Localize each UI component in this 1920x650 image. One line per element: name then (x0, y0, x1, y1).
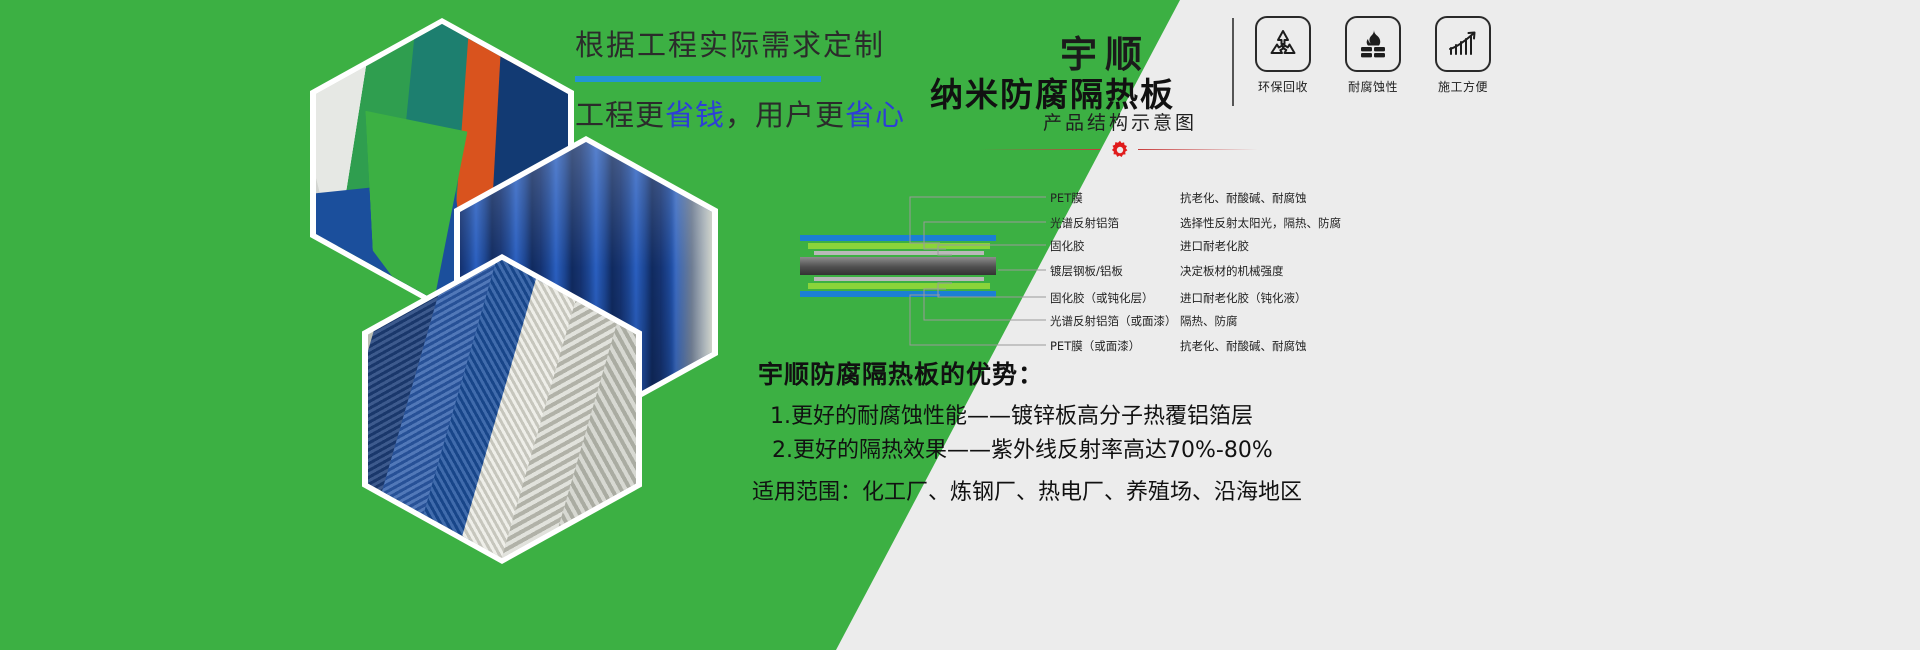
slogan-divider-rule (575, 76, 821, 82)
advantage-item-2: 2.更好的隔热效果——紫外线反射率高达70%-80% (772, 432, 1273, 464)
badge-box (1255, 16, 1311, 72)
layer-desc-5: 隔热、防腐 (1180, 313, 1238, 329)
slogan-line-1: 根据工程实际需求定制 (575, 22, 875, 64)
product-structure-diagram: PET膜 光谱反射铝箔 固化胶 镀层钢板/铝板 固化胶（或钝化层） 光谱反射铝箔… (880, 175, 1920, 370)
badge-label: 施工方便 (1432, 78, 1494, 95)
diagram-leader-lines (880, 175, 1920, 370)
badge-recycle: 环保回收 (1252, 16, 1314, 95)
gear-icon (1110, 140, 1130, 160)
growth-chart-icon (1446, 27, 1480, 61)
advantages-title-colon: ： (1018, 360, 1044, 389)
diagram-rule-right (1138, 149, 1258, 150)
badge-easy-install: 施工方便 (1432, 16, 1494, 95)
brand-divider (1232, 18, 1234, 106)
layer-desc-4: 进口耐老化胶（钝化液） (1180, 290, 1307, 306)
layer-desc-0: 抗老化、耐酸碱、耐腐蚀 (1180, 190, 1307, 206)
slogan-text-a: 工程更 (575, 98, 665, 132)
advantages-title-text: 宇顺防腐隔热板的优势 (758, 360, 1018, 389)
layer-desc-6: 抗老化、耐酸碱、耐腐蚀 (1180, 338, 1307, 354)
layer-label-3: 镀层钢板/铝板 (1050, 263, 1123, 279)
badge-label: 耐腐蚀性 (1342, 78, 1404, 95)
application-scope: 适用范围：化工厂、炼钢厂、热电厂、养殖场、沿海地区 (752, 474, 1302, 506)
layer-label-0: PET膜 (1050, 190, 1083, 206)
slogan-highlight-1: 省钱 (665, 98, 725, 132)
fire-brick-icon (1355, 27, 1391, 61)
badge-box (1345, 16, 1401, 72)
advantages-title: 宇顺防腐隔热板的优势： (758, 355, 1044, 391)
layer-label-6: PET膜（或面漆） (1050, 338, 1140, 354)
recycle-icon (1266, 27, 1300, 61)
badge-corrosion: 耐腐蚀性 (1342, 16, 1404, 95)
layer-desc-3: 决定板材的机械强度 (1180, 263, 1284, 279)
slogan-text-b: ，用户更 (725, 98, 845, 132)
slogan-line-2: 工程更省钱，用户更省心 (575, 92, 875, 134)
badge-label: 环保回收 (1252, 78, 1314, 95)
diagram-title: 产品结构示意图 (940, 108, 1300, 135)
badge-box (1435, 16, 1491, 72)
right-content-panel: 宇顺 纳米防腐隔热板 环保回收 (880, 0, 1920, 650)
layer-label-1: 光谱反射铝箔 (1050, 215, 1119, 231)
layer-label-4: 固化胶（或钝化层） (1050, 290, 1154, 306)
diagram-rule-left (980, 149, 1100, 150)
layer-label-2: 固化胶 (1050, 238, 1085, 254)
brand-header: 宇顺 纳米防腐隔热板 环保回收 (880, 12, 1920, 112)
layer-desc-1: 选择性反射太阳光，隔热、防腐 (1180, 215, 1341, 231)
slogan-block: 根据工程实际需求定制 工程更省钱，用户更省心 (575, 22, 875, 134)
feature-badges: 环保回收 耐腐蚀性 (1252, 16, 1494, 95)
product-banner: 根据工程实际需求定制 工程更省钱，用户更省心 宇顺 纳米防腐隔热板 (0, 0, 1920, 650)
layer-desc-2: 进口耐老化胶 (1180, 238, 1249, 254)
advantage-item-1: 1.更好的耐腐蚀性能——镀锌板高分子热覆铝箔层 (770, 398, 1253, 430)
layer-label-5: 光谱反射铝箔（或面漆） (1050, 313, 1177, 329)
